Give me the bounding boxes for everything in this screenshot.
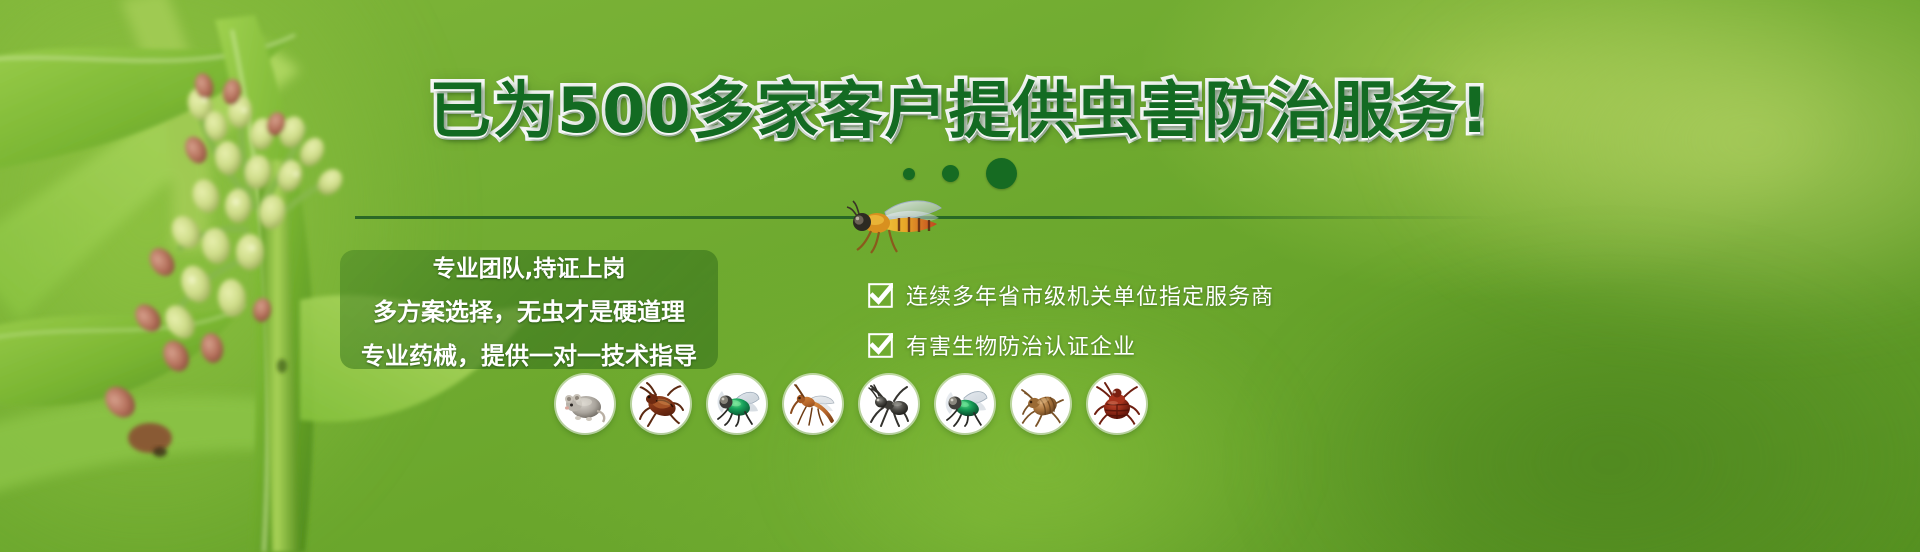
decorative-dots — [0, 158, 1920, 189]
dot-large-icon — [986, 158, 1017, 189]
list-item: 连续多年省市级机关单位指定服务商 — [868, 270, 1628, 320]
highlights-panel-text: 专业团队,持证上岗 多方案选择，无虫才是硬道理 专业药械，提供一对一技术指导 — [340, 250, 718, 369]
cockroach-icon — [632, 375, 690, 433]
page-title: 已为500多家客户提供虫害防治服务! — [0, 72, 1920, 150]
dot-medium-icon — [942, 165, 959, 182]
check-box-icon — [868, 333, 893, 358]
feature-bullets: 连续多年省市级机关单位指定服务商 有害生物防治认证企业 — [868, 270, 1628, 370]
dot-small-icon — [903, 168, 915, 180]
rat-icon — [556, 375, 614, 433]
bullet-label: 有害生物防治认证企业 — [906, 329, 1136, 361]
headline-text: 已为500多家客户提供虫害防治服务! — [429, 72, 1491, 150]
bedbug-icon — [1088, 375, 1146, 433]
green-bottle-fly-icon — [708, 375, 766, 433]
bullet-label: 连续多年省市级机关单位指定服务商 — [906, 279, 1274, 311]
hoverfly-icon — [845, 196, 955, 256]
check-box-icon — [868, 283, 893, 308]
ant-icon — [860, 375, 918, 433]
panel-line-1: 专业团队,持证上岗 — [433, 249, 626, 283]
panel-line-3: 专业药械，提供一对一技术指导 — [361, 336, 697, 371]
housefly-icon — [936, 375, 994, 433]
pest-control-banner: 已为500多家客户提供虫害防治服务! — [0, 0, 1920, 552]
pest-icons-row — [556, 375, 1146, 433]
list-item: 有害生物防治认证企业 — [868, 320, 1628, 370]
mosquito-icon — [784, 375, 842, 433]
flea-icon — [1012, 375, 1070, 433]
panel-line-2: 多方案选择，无虫才是硬道理 — [373, 292, 685, 327]
